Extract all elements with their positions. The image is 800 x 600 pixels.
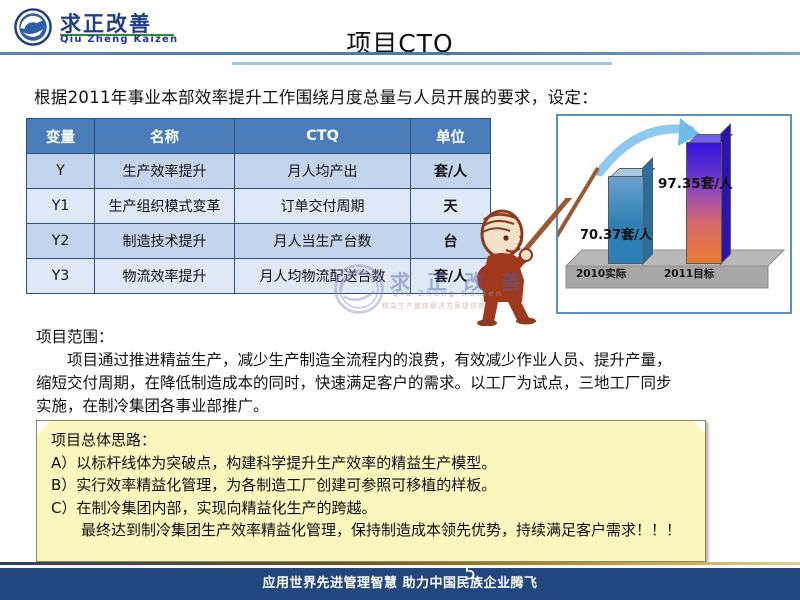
- cell-variable: Y1: [27, 189, 95, 224]
- cell-ctq: 月人均物流配送台数: [235, 259, 411, 294]
- table-row: Y1 生产组织模式变革 订单交付周期 天: [27, 189, 491, 224]
- bar-value-label-2011: 97.35套/人: [658, 172, 733, 192]
- column-header-ctq: CTQ: [235, 119, 411, 154]
- note-heading: 项目总体思路：: [51, 429, 695, 452]
- slide: 求正改善 Qiu Zheng Kaizen 项目CTQ 根据2011年事业本部效…: [0, 0, 800, 600]
- bar-value-label-2010: 70.37套/人: [580, 224, 652, 243]
- note-line-c: C）在制冷集团内部，实现向精益化生产的跨越。: [51, 497, 695, 520]
- page-number: 5: [0, 562, 800, 584]
- column-header-unit: 单位: [411, 119, 491, 154]
- cell-variable: Y3: [27, 259, 95, 294]
- project-scope: 项目范围： 项目通过推进精益生产，减少生产制造全流程内的浪费，有效减少作业人员、…: [36, 326, 676, 418]
- cell-ctq: 月人当生产台数: [235, 224, 411, 259]
- note-closing: 最终达到制冷集团生产效率精益化管理，保持制造成本领先优势，持续满足客户需求！！！: [51, 519, 695, 542]
- cartoon-presenter-with-pointer-icon: [462, 198, 572, 326]
- cell-name: 生产组织模式变革: [95, 189, 235, 224]
- cell-name: 生产效率提升: [95, 154, 235, 189]
- title-underline-primary: [0, 52, 800, 55]
- overall-approach-note: 项目总体思路： A）以标杆线体为突破点，构建科学提升生产效率的精益生产模型。 B…: [36, 420, 706, 562]
- intro-sentence: 根据2011年事业本部效率提升工作围绕月度总量与人员开展的要求，设定：: [34, 84, 654, 108]
- cell-unit: 套/人: [411, 154, 491, 189]
- note-corner-curl-icon: [36, 420, 51, 435]
- cell-ctq: 订单交付周期: [235, 189, 411, 224]
- project-scope-body: 项目通过推进精益生产，减少生产制造全流程内的浪费，有效减少作业人员、提升产量，缩…: [36, 349, 676, 418]
- bar-2011-target: [686, 142, 722, 264]
- bar-category-label-2010: 2010实际: [576, 266, 626, 281]
- table-header-row: 变量 名称 CTQ 单位: [27, 119, 491, 154]
- cell-variable: Y: [27, 154, 95, 189]
- ctq-table: 变量 名称 CTQ 单位 Y 生产效率提升 月人均产出 套/人 Y1 生产组织模…: [26, 118, 491, 294]
- title-underline-secondary: [232, 62, 612, 65]
- table-row: Y3 物流效率提升 月人均物流配送台数 套/人: [27, 259, 491, 294]
- ctq-bar-chart: 70.37套/人 97.35套/人 2010实际 2011目标: [556, 114, 792, 314]
- column-header-name: 名称: [95, 119, 235, 154]
- column-header-variable: 变量: [27, 119, 95, 154]
- cell-name: 物流效率提升: [95, 259, 235, 294]
- note-line-a: A）以标杆线体为突破点，构建科学提升生产效率的精益生产模型。: [51, 452, 695, 475]
- table-row: Y2 制造技术提升 月人当生产台数 台: [27, 224, 491, 259]
- cell-variable: Y2: [27, 224, 95, 259]
- cell-name: 制造技术提升: [95, 224, 235, 259]
- bar-category-label-2011: 2011目标: [664, 266, 714, 281]
- cell-ctq: 月人均产出: [235, 154, 411, 189]
- note-line-b: B）实行效率精益化管理，为各制造工厂创建可参照可移植的样板。: [51, 474, 695, 497]
- table-row: Y 生产效率提升 月人均产出 套/人: [27, 154, 491, 189]
- project-scope-heading: 项目范围：: [36, 326, 676, 349]
- bar-2010-actual: [608, 176, 644, 264]
